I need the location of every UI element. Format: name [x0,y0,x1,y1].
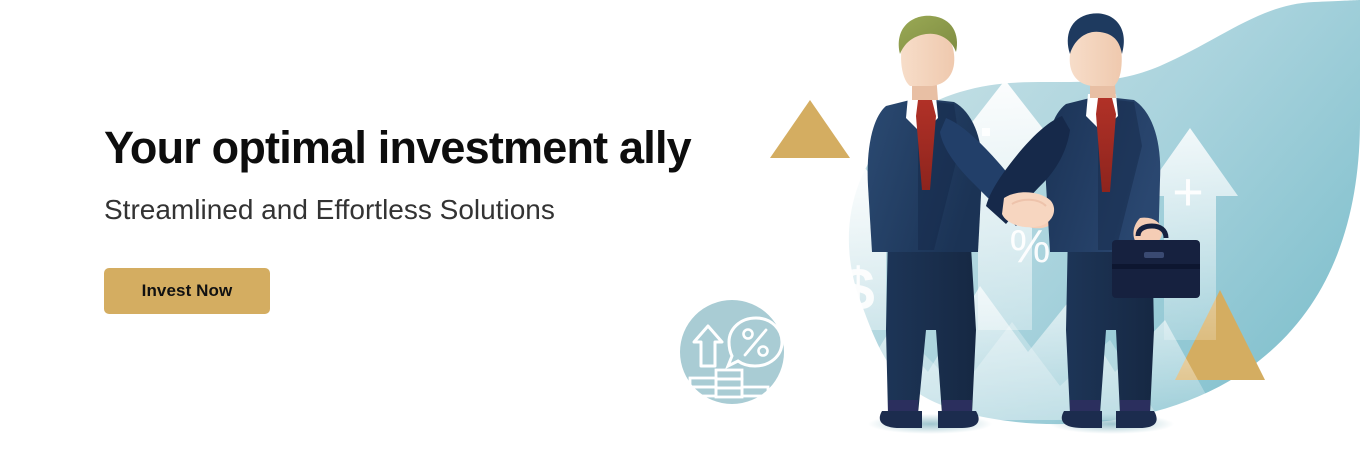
decor-square-1 [982,128,990,136]
dollar-symbol: $ [841,256,874,323]
banner-subtitle: Streamlined and Effortless Solutions [104,193,555,227]
page-title: Your optimal investment ally [104,124,691,173]
gold-triangle-upper [770,100,850,158]
hero-banner: Your optimal investment ally Streamlined… [0,0,1366,452]
plus-symbol: + [1172,162,1204,222]
growth-rate-badge[interactable] [680,300,784,404]
invest-now-button[interactable]: Invest Now [104,268,270,314]
left-figure-shoe-2 [938,411,979,428]
left-figure-shoe-1 [880,411,922,428]
right-figure-shoe-1 [1062,411,1102,428]
percent-symbol: % [1010,220,1051,272]
hero-illustration: $ % + [660,0,1366,452]
handshake [1002,192,1054,227]
banner-text-column: Your optimal investment ally Streamlined… [104,0,724,452]
handshake-illustration-svg: $ % + [660,0,1366,452]
right-figure-shoe-2 [1116,411,1157,428]
